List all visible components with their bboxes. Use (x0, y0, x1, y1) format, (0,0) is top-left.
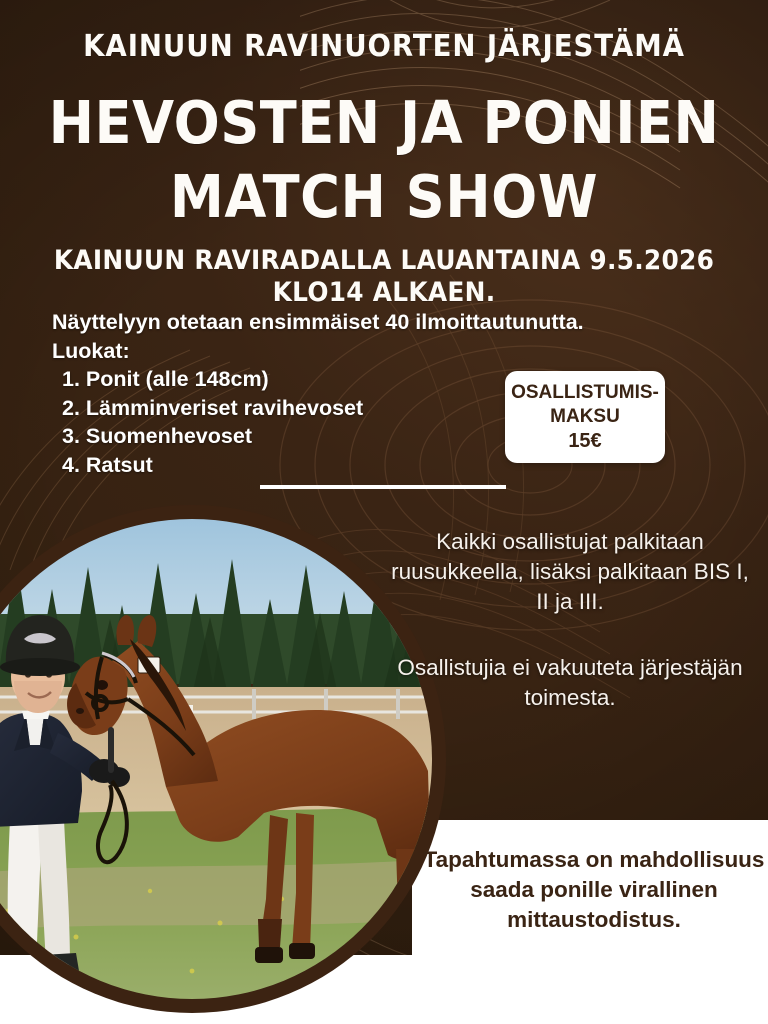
awards-info-block: Kaikki osallistujat palkitaan ruusukkeel… (384, 527, 756, 713)
title-line-2: MATCH SHOW (31, 160, 738, 234)
classes-list: 1. Ponit (alle 148cm) 2. Lämminveriset r… (52, 365, 512, 479)
awards-paragraph: Kaikki osallistujat palkitaan ruusukkeel… (384, 527, 756, 617)
classes-label: Luokat: (52, 337, 512, 366)
fee-label-line-2: MAKSU (550, 405, 620, 429)
measurement-certificate-note: Tapahtumassa on mahdollisuus saada ponil… (420, 826, 768, 954)
entry-fee-badge: OSALLISTUMIS- MAKSU 15€ (505, 371, 665, 463)
title-line-1: HEVOSTEN JA PONIEN (31, 86, 738, 160)
fee-label-line-1: OSALLISTUMIS- (511, 381, 659, 405)
info-block: Näyttelyyn otetaan ensimmäiset 40 ilmoit… (52, 308, 512, 479)
page-title: HEVOSTEN JA PONIEN MATCH SHOW (31, 86, 738, 234)
list-item: 3. Suomenhevoset (62, 422, 512, 451)
section-divider (260, 485, 506, 489)
list-item: 1. Ponit (alle 148cm) (62, 365, 512, 394)
fee-amount: 15€ (568, 429, 601, 453)
poster-kicker: KAINUUN RAVINUORTEN JÄRJESTÄMÄ (31, 30, 738, 64)
event-when-line: KAINUUN RAVIRADALLA LAUANTAINA 9.5.2026 … (31, 245, 738, 309)
list-item: 2. Lämminveriset ravihevoset (62, 394, 512, 423)
capacity-note: Näyttelyyn otetaan ensimmäiset 40 ilmoit… (52, 308, 512, 337)
insurance-paragraph: Osallistujia ei vakuuteta järjestäjän to… (384, 653, 756, 713)
list-item: 4. Ratsut (62, 451, 512, 480)
poster-root: KAINUUN RAVINUORTEN JÄRJESTÄMÄ HEVOSTEN … (0, 0, 768, 1024)
